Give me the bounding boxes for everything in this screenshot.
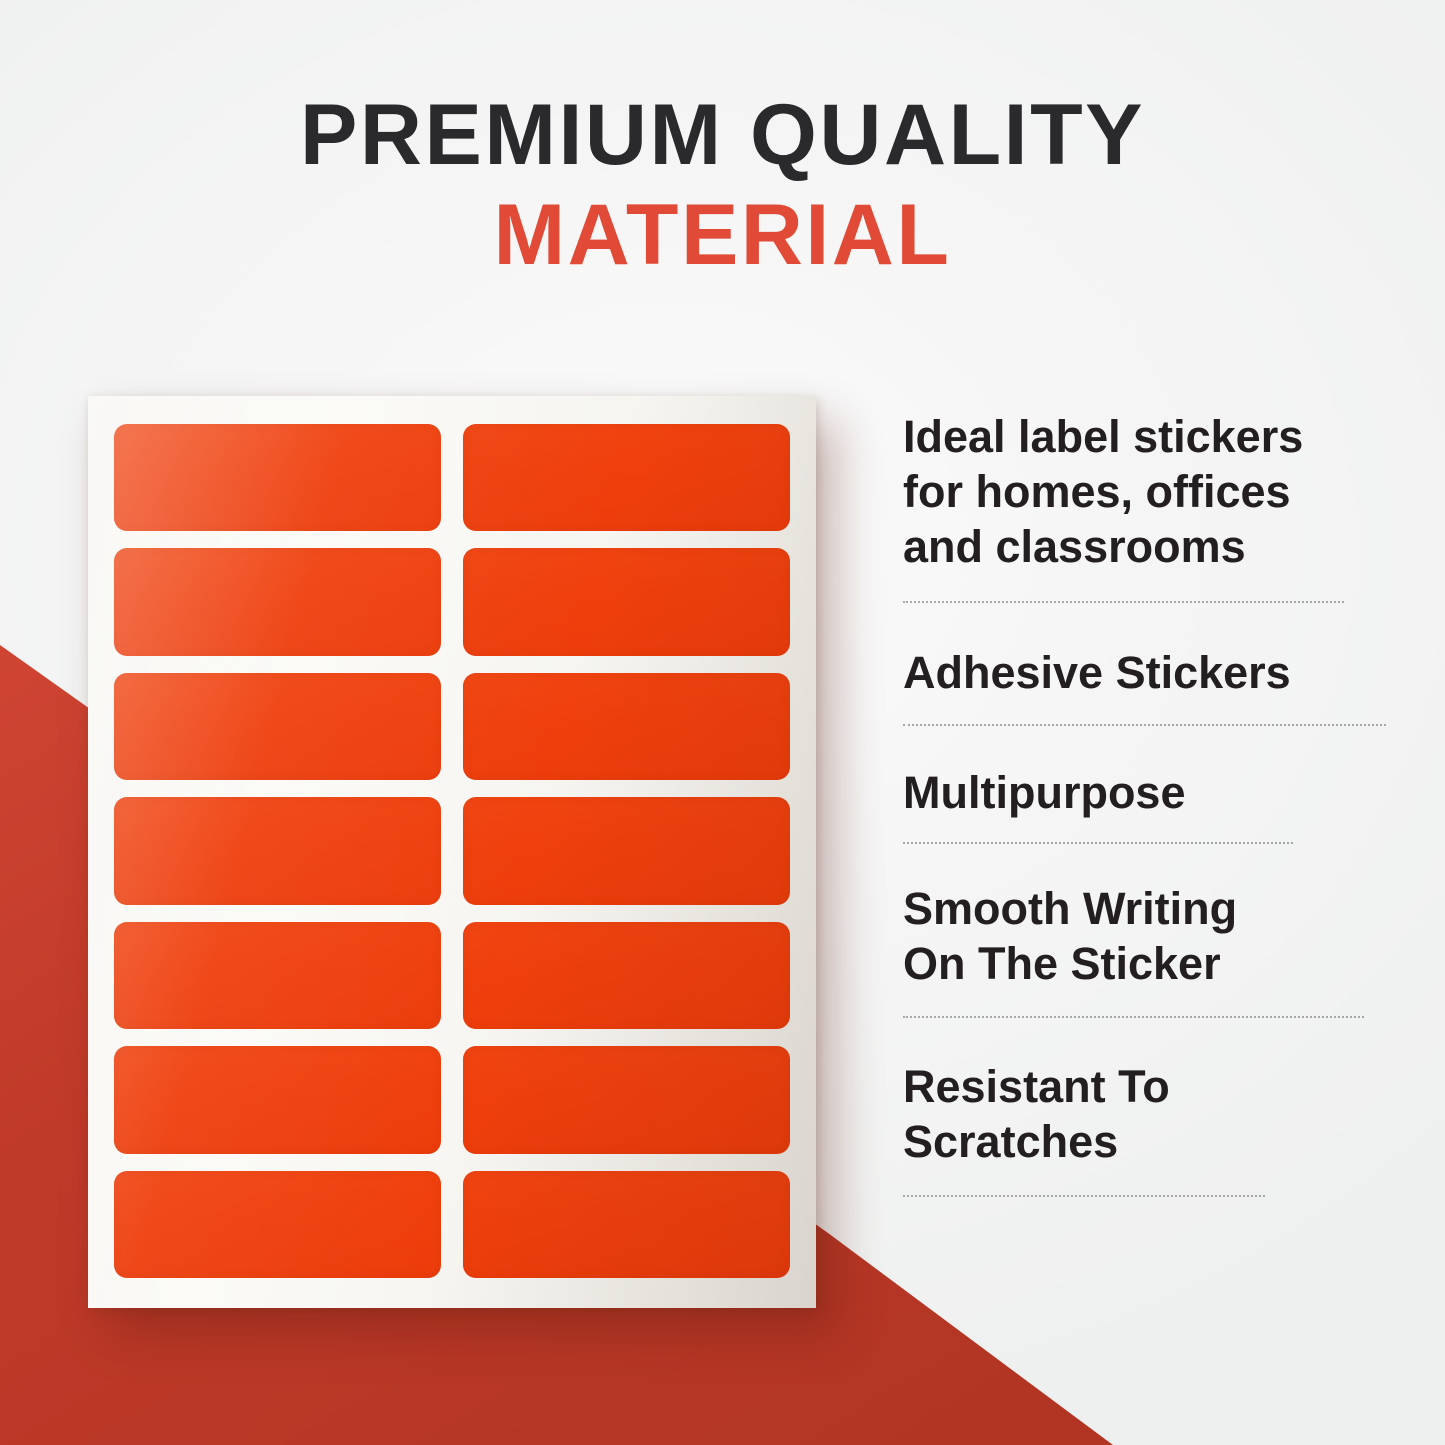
feature-divider bbox=[903, 601, 1344, 603]
feature-list: Ideal label stickers for homes, offices … bbox=[903, 410, 1403, 1197]
feature-item: Smooth Writing On The Sticker bbox=[903, 882, 1403, 992]
sticker-label bbox=[463, 1046, 790, 1153]
page-title-primary: PREMIUM QUALITY bbox=[0, 92, 1445, 178]
feature-text: Smooth Writing On The Sticker bbox=[903, 882, 1403, 992]
feature-text: Adhesive Stickers bbox=[903, 646, 1403, 701]
feature-divider bbox=[903, 842, 1293, 844]
sticker-label bbox=[114, 1171, 441, 1278]
sticker-label bbox=[463, 1171, 790, 1278]
feature-text: Resistant To Scratches bbox=[903, 1060, 1403, 1170]
sticker-grid bbox=[88, 396, 816, 1308]
feature-item: Ideal label stickers for homes, offices … bbox=[903, 410, 1403, 575]
sticker-label bbox=[463, 673, 790, 780]
feature-item: Multipurpose bbox=[903, 766, 1403, 821]
page-title-secondary: MATERIAL bbox=[0, 192, 1445, 278]
sticker-label bbox=[114, 673, 441, 780]
sticker-label bbox=[463, 548, 790, 655]
sticker-label bbox=[114, 922, 441, 1029]
sticker-label bbox=[463, 424, 790, 531]
sticker-label bbox=[463, 797, 790, 904]
sticker-label bbox=[114, 1046, 441, 1153]
feature-divider bbox=[903, 1195, 1265, 1197]
heading-block: PREMIUM QUALITY MATERIAL bbox=[0, 92, 1445, 278]
feature-divider bbox=[903, 1016, 1364, 1018]
feature-divider bbox=[903, 724, 1386, 726]
feature-text: Ideal label stickers for homes, offices … bbox=[903, 410, 1403, 575]
sticker-label bbox=[114, 424, 441, 531]
product-infographic: PREMIUM QUALITY MATERIAL Ideal label sti… bbox=[0, 0, 1445, 1445]
sticker-label bbox=[114, 548, 441, 655]
feature-item: Resistant To Scratches bbox=[903, 1060, 1403, 1170]
feature-item: Adhesive Stickers bbox=[903, 646, 1403, 701]
product-image-sticker-sheet bbox=[88, 396, 816, 1308]
sticker-label bbox=[114, 797, 441, 904]
feature-text: Multipurpose bbox=[903, 766, 1403, 821]
sticker-label bbox=[463, 922, 790, 1029]
